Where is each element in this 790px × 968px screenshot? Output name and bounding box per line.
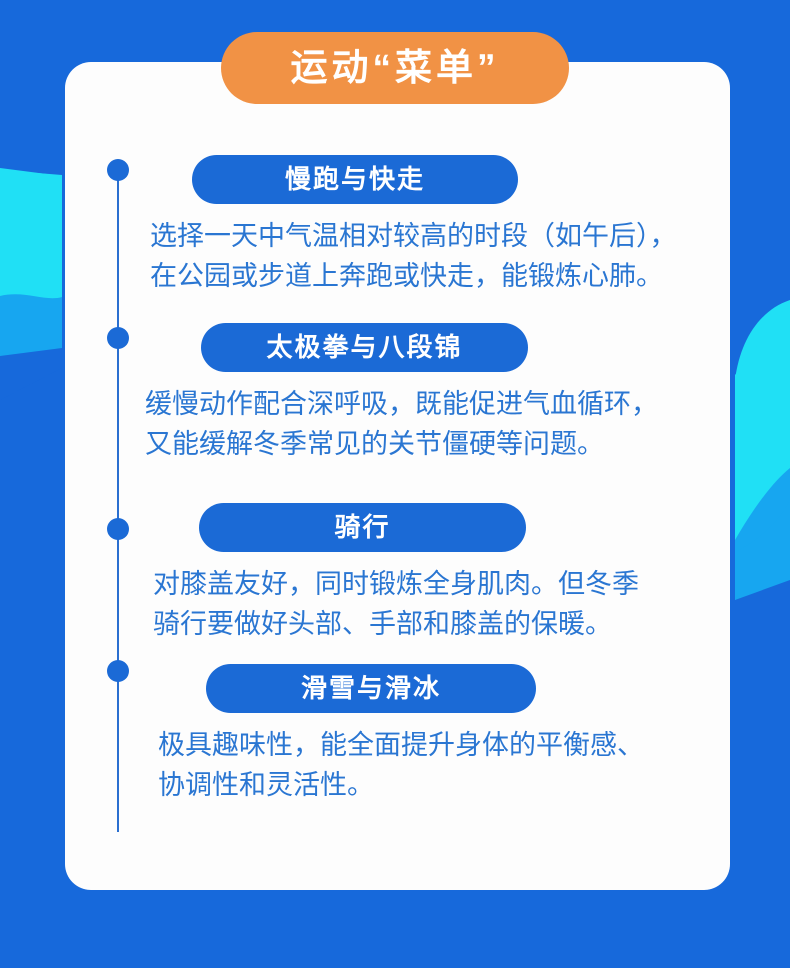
timeline-dot-3 xyxy=(107,518,129,540)
wave-right-blue-mid xyxy=(735,468,790,600)
page-title: 运动“菜单” xyxy=(291,49,500,86)
section-jogging: 慢跑与快走 选择一天中气温相对较高的时段（如午后）， 在公园或步道上奔跑或快走，… xyxy=(140,155,740,296)
section-body-3: 对膝盖友好，同时锻炼全身肌肉。但冬季 骑行要做好头部、手部和膝盖的保暖。 xyxy=(153,564,740,644)
wave-right-cyan-body xyxy=(735,302,790,552)
wave-left-blue-bottom xyxy=(0,348,62,400)
wave-left-cyan-upper xyxy=(0,168,62,302)
poster-title-pill: 运动“菜单” xyxy=(221,32,569,104)
timeline-dot-1 xyxy=(107,159,129,181)
section-heading-pill-1[interactable]: 慢跑与快走 xyxy=(192,155,518,204)
timeline-dot-2 xyxy=(107,327,129,349)
section-heading-2: 太极拳与八段锦 xyxy=(266,334,462,360)
section-taichi: 太极拳与八段锦 缓慢动作配合深呼吸，既能促进气血循环， 又能缓解冬季常见的关节僵… xyxy=(140,323,740,464)
wave-left-blue-mid xyxy=(0,294,62,372)
poster-root: 运动“菜单” 慢跑与快走 选择一天中气温相对较高的时段（如午后）， 在公园或步道… xyxy=(0,0,790,968)
section-body-4: 极具趣味性，能全面提升身体的平衡感、 协调性和灵活性。 xyxy=(158,725,740,805)
section-body-1: 选择一天中气温相对较高的时段（如午后）， 在公园或步道上奔跑或快走，能锻炼心肺。 xyxy=(150,216,740,296)
wave-right-cyan-top xyxy=(735,300,790,560)
section-heading-pill-2[interactable]: 太极拳与八段锦 xyxy=(201,323,528,372)
section-heading-4: 滑雪与滑冰 xyxy=(301,675,441,701)
wave-right-blue-lower xyxy=(735,500,790,600)
timeline-dot-4 xyxy=(107,660,129,682)
wave-left-cyan-top xyxy=(0,170,62,312)
section-skiing: 滑雪与滑冰 极具趣味性，能全面提升身体的平衡感、 协调性和灵活性。 xyxy=(140,664,740,805)
section-heading-pill-4[interactable]: 滑雪与滑冰 xyxy=(206,664,536,713)
timeline-line xyxy=(117,170,119,832)
section-cycling: 骑行 对膝盖友好，同时锻炼全身肌肉。但冬季 骑行要做好头部、手部和膝盖的保暖。 xyxy=(140,503,740,644)
section-heading-pill-3[interactable]: 骑行 xyxy=(199,503,526,552)
section-heading-1: 慢跑与快走 xyxy=(285,166,425,192)
section-heading-3: 骑行 xyxy=(334,514,390,540)
section-body-2: 缓慢动作配合深呼吸，既能促进气血循环， 又能缓解冬季常见的关节僵硬等问题。 xyxy=(145,384,740,464)
